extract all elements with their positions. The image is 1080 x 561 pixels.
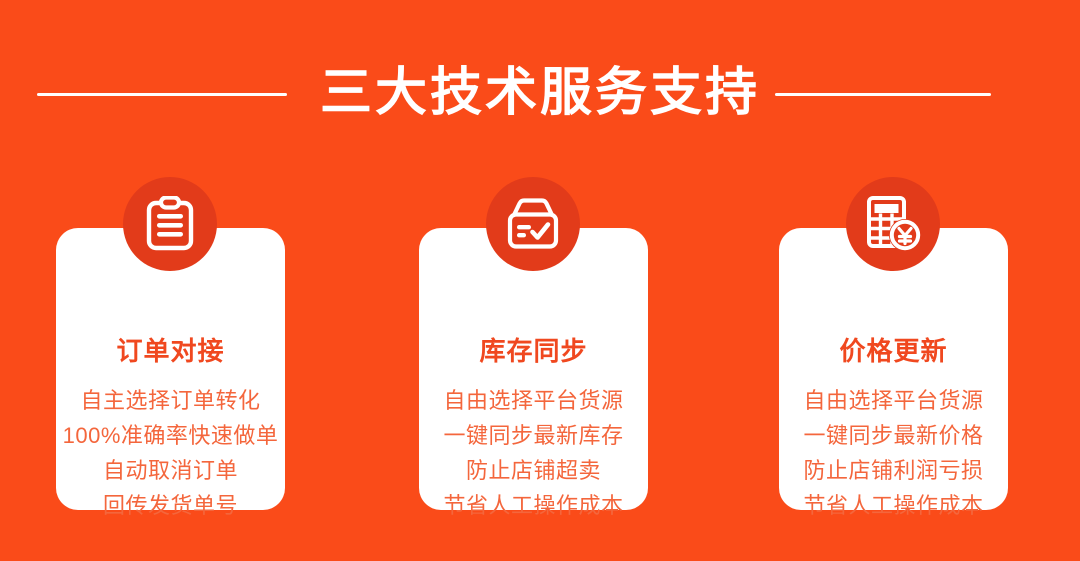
clipboard-icon (123, 177, 217, 271)
card-title: 库存同步 (419, 335, 648, 367)
card-feature-item: 节省人工操作成本 (779, 488, 1008, 523)
card-feature-item: 回传发货单号 (56, 488, 285, 523)
card-feature-item: 一键同步最新价格 (779, 418, 1008, 453)
card-feature-item: 自动取消订单 (56, 453, 285, 488)
calculator-yuan-icon (846, 177, 940, 271)
card-title: 订单对接 (56, 335, 285, 367)
card-title: 价格更新 (779, 335, 1008, 367)
service-cards: 订单对接 自主选择订单转化 100%准确率快速做单 自动取消订单 回传发货单号 … (0, 177, 1080, 517)
card-feature-item: 节省人工操作成本 (419, 488, 648, 523)
card-feature-list: 自主选择订单转化 100%准确率快速做单 自动取消订单 回传发货单号 (56, 383, 285, 523)
inventory-box-check-icon (486, 177, 580, 271)
title-rule-right (775, 93, 991, 96)
card-feature-item: 自由选择平台货源 (779, 383, 1008, 418)
card-feature-item: 100%准确率快速做单 (56, 418, 285, 453)
card-feature-list: 自由选择平台货源 一键同步最新库存 防止店铺超卖 节省人工操作成本 (419, 383, 648, 523)
card-feature-item: 防止店铺利润亏损 (779, 453, 1008, 488)
card-feature-item: 防止店铺超卖 (419, 453, 648, 488)
card-feature-list: 自由选择平台货源 一键同步最新价格 防止店铺利润亏损 节省人工操作成本 (779, 383, 1008, 523)
card-feature-item: 自由选择平台货源 (419, 383, 648, 418)
card-feature-item: 一键同步最新库存 (419, 418, 648, 453)
page-header: 三大技术服务支持 (0, 0, 1080, 180)
card-feature-item: 自主选择订单转化 (56, 383, 285, 418)
